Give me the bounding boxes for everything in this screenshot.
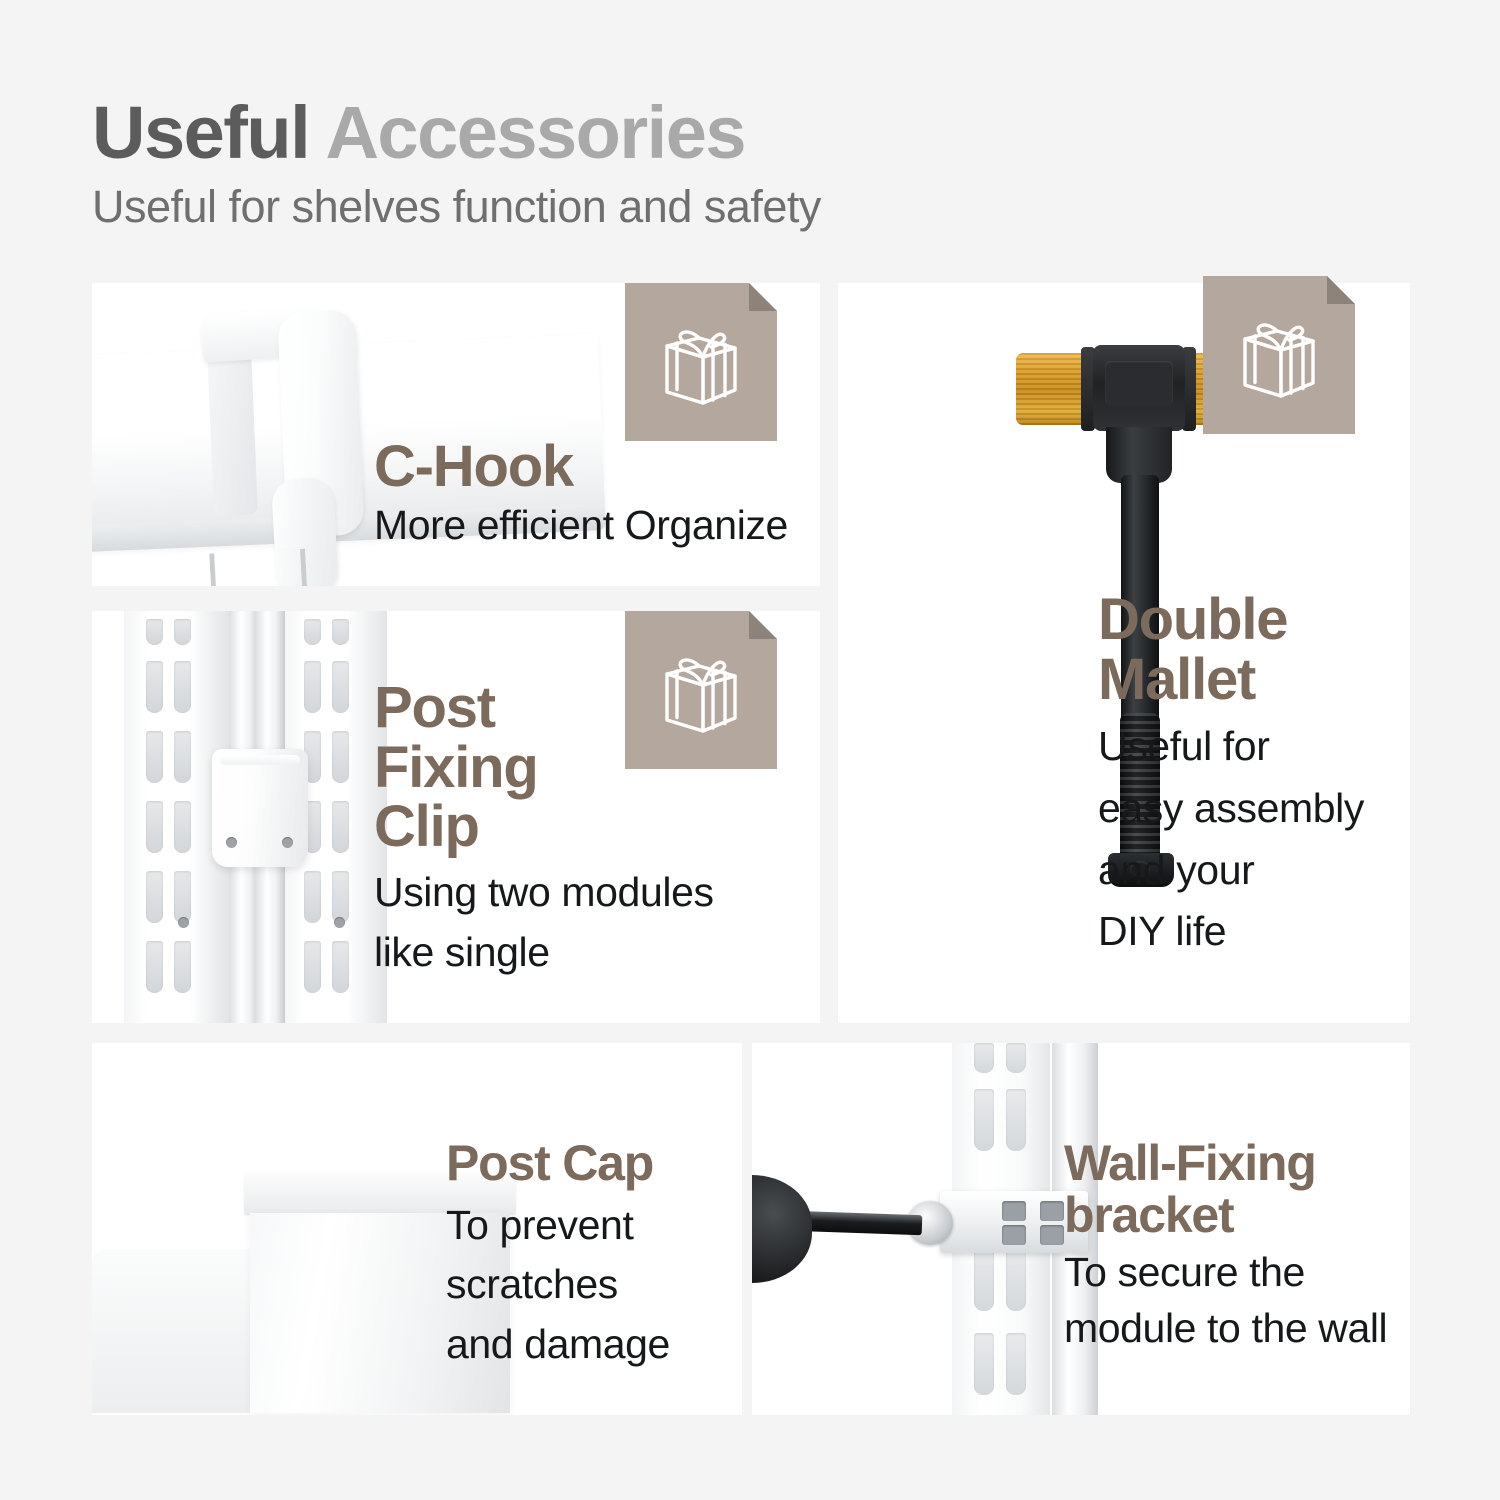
card-body-double-mallet-line-3: and your xyxy=(1098,847,1364,895)
post-slot xyxy=(1006,1089,1026,1151)
infographic-page: Useful Accessories Useful for shelves fu… xyxy=(0,0,1500,1500)
card-heading-post-fixing-clip-line-3: Clip xyxy=(374,797,714,857)
post-slot xyxy=(146,871,163,923)
post-slot xyxy=(332,801,349,853)
post-slot xyxy=(174,941,191,993)
gift-box-icon xyxy=(1233,309,1325,401)
card-heading-wall-fixing-bracket-line-2: bracket xyxy=(1064,1190,1387,1242)
background-post-shape xyxy=(92,1249,252,1413)
post-slot xyxy=(146,661,163,713)
post-slot xyxy=(304,941,321,993)
card-body-post-fixing-clip-line-2: like single xyxy=(374,929,714,977)
card-heading-wall-fixing-bracket-line-1: Wall-Fixing xyxy=(1064,1138,1387,1190)
card-body-post-cap-line-1: To prevent xyxy=(446,1202,670,1250)
gift-badge-double-mallet xyxy=(1203,276,1355,434)
card-body-wall-fixing-bracket-line-2: module to the wall xyxy=(1064,1305,1387,1353)
card-heading-post-cap: Post Cap xyxy=(446,1138,670,1190)
card-body-post-cap-line-3: and damage xyxy=(446,1321,670,1369)
card-body-double-mallet-line-4: DIY life xyxy=(1098,908,1364,956)
text-block-wall-fixing-bracket: Wall-Fixing bracket To secure the module… xyxy=(1064,1138,1387,1352)
post-slot xyxy=(974,1043,994,1073)
post-slot xyxy=(332,619,349,645)
post-slot xyxy=(174,801,191,853)
post-slot xyxy=(1006,1249,1026,1311)
card-body-wall-fixing-bracket-line-1: To secure the xyxy=(1064,1249,1387,1297)
gift-badge-c-hook xyxy=(625,283,777,441)
post-slot xyxy=(332,871,349,923)
card-body-c-hook: More efficient Organize xyxy=(374,502,788,550)
mallet-head-center xyxy=(1093,345,1185,431)
post-slot xyxy=(174,871,191,923)
hook-wire-shape xyxy=(209,549,311,586)
card-heading-post-fixing-clip-line-1: Post xyxy=(374,678,714,738)
bracket-hole xyxy=(1002,1201,1026,1221)
post-hole xyxy=(334,917,345,928)
badge-folded-corner xyxy=(749,611,777,639)
post-slot xyxy=(174,619,191,645)
post-slot xyxy=(146,941,163,993)
post-slot xyxy=(174,731,191,783)
card-heading-post-fixing-clip-line-2: Fixing xyxy=(374,738,714,798)
post-slot xyxy=(974,1089,994,1151)
post-slot xyxy=(332,731,349,783)
post-slot xyxy=(1006,1333,1026,1395)
card-heading-c-hook: C-Hook xyxy=(374,437,788,497)
page-title-part-2: Accessories xyxy=(325,91,745,174)
post-slot xyxy=(146,801,163,853)
card-heading-double-mallet-line-2: Mallet xyxy=(1098,650,1364,710)
text-block-c-hook: C-Hook More efficient Organize xyxy=(374,437,788,549)
post-slot xyxy=(974,1249,994,1311)
post-slot xyxy=(1006,1043,1026,1073)
fixing-clip-shape xyxy=(212,749,308,867)
post-slot xyxy=(304,661,321,713)
page-header: Useful Accessories Useful for shelves fu… xyxy=(92,96,821,229)
card-body-post-fixing-clip-line-1: Using two modules xyxy=(374,869,714,917)
page-title: Useful Accessories xyxy=(92,96,821,170)
badge-folded-corner xyxy=(749,283,777,311)
page-title-part-1: Useful xyxy=(92,91,325,174)
post-slot xyxy=(332,661,349,713)
post-slot xyxy=(304,871,321,923)
text-block-double-mallet: Double Mallet Useful for easy assembly a… xyxy=(1098,590,1364,956)
bracket-hole xyxy=(1040,1201,1064,1221)
post-slot xyxy=(332,941,349,993)
gift-box-icon xyxy=(655,316,747,408)
card-body-post-cap-line-2: scratches xyxy=(446,1261,670,1309)
card-body-double-mallet-line-2: easy assembly xyxy=(1098,785,1364,833)
post-slot xyxy=(304,619,321,645)
clip-hole xyxy=(282,837,293,848)
post-hole xyxy=(178,917,189,928)
post-slot xyxy=(974,1333,994,1395)
card-body-double-mallet-line-1: Useful for xyxy=(1098,723,1364,771)
clip-hole xyxy=(226,837,237,848)
bracket-hole xyxy=(1040,1225,1064,1245)
screwdriver-handle-shape xyxy=(752,1175,812,1283)
post-slot xyxy=(146,731,163,783)
bracket-hole xyxy=(1002,1225,1026,1245)
post-slot xyxy=(146,619,163,645)
page-subtitle: Useful for shelves function and safety xyxy=(92,184,821,229)
text-block-post-fixing-clip: Post Fixing Clip Using two modules like … xyxy=(374,678,714,976)
post-slot xyxy=(174,661,191,713)
text-block-post-cap: Post Cap To prevent scratches and damage xyxy=(446,1138,670,1368)
badge-folded-corner xyxy=(1327,276,1355,304)
card-heading-double-mallet-line-1: Double xyxy=(1098,590,1364,650)
